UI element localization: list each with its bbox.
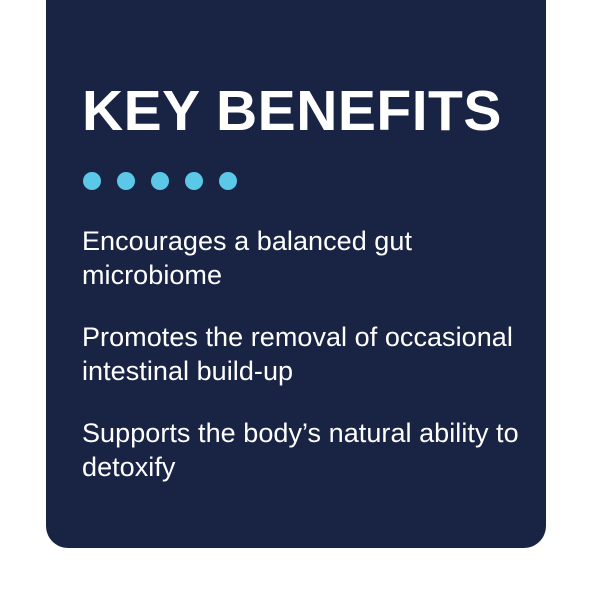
accent-dot-icon: [117, 172, 135, 190]
benefit-list: Encourages a balanced gut microbiome Pro…: [82, 224, 522, 484]
list-item: Promotes the removal of occasional intes…: [82, 320, 522, 388]
accent-dot-icon: [151, 172, 169, 190]
page-title: KEY BENEFITS: [82, 82, 502, 140]
list-item: Supports the body’s natural ability to d…: [82, 416, 522, 484]
page-canvas: KEY BENEFITS Encourages a balanced gut m…: [0, 0, 600, 600]
accent-dot-icon: [185, 172, 203, 190]
list-item: Encourages a balanced gut microbiome: [82, 224, 522, 292]
key-benefits-card: KEY BENEFITS Encourages a balanced gut m…: [46, 0, 546, 548]
accent-dot-row: [83, 172, 237, 190]
accent-dot-icon: [83, 172, 101, 190]
accent-dot-icon: [219, 172, 237, 190]
